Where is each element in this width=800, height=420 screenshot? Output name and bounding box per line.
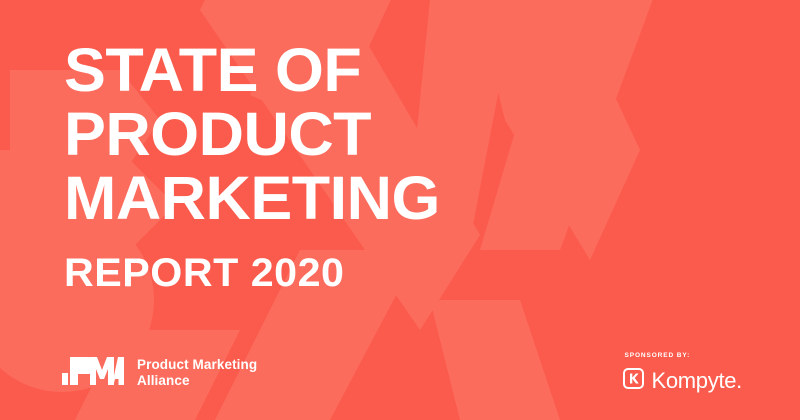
pma-logo-icon (62, 353, 124, 392)
sponsor-logo-lockup: Kompyte. (623, 368, 742, 394)
watermark-a-foot (430, 300, 560, 420)
pma-name-line-2: Alliance (137, 373, 257, 389)
watermark-m-right (470, 0, 640, 260)
pma-wordmark: Product Marketing Alliance (137, 357, 257, 389)
sponsor-block: SPONSORED BY: Kompyte. (623, 351, 742, 394)
sponsored-by-label: SPONSORED BY: (624, 351, 742, 360)
title-line-2: PRODUCT (64, 102, 440, 166)
report-cover: STATE OF PRODUCT MARKETING REPORT 2020 (0, 0, 800, 420)
kompyte-icon (623, 368, 644, 394)
pma-logo-lockup: Product Marketing Alliance (62, 353, 257, 392)
watermark-a-left (480, 0, 660, 250)
cover-title-block: STATE OF PRODUCT MARKETING REPORT 2020 (64, 38, 429, 296)
title-line-1: STATE OF (64, 38, 440, 102)
cover-subtitle: REPORT 2020 (64, 250, 440, 296)
title-line-3: MARKETING (64, 166, 440, 230)
kompyte-wordmark: Kompyte. (651, 369, 742, 393)
pma-name-line-1: Product Marketing (137, 357, 257, 373)
